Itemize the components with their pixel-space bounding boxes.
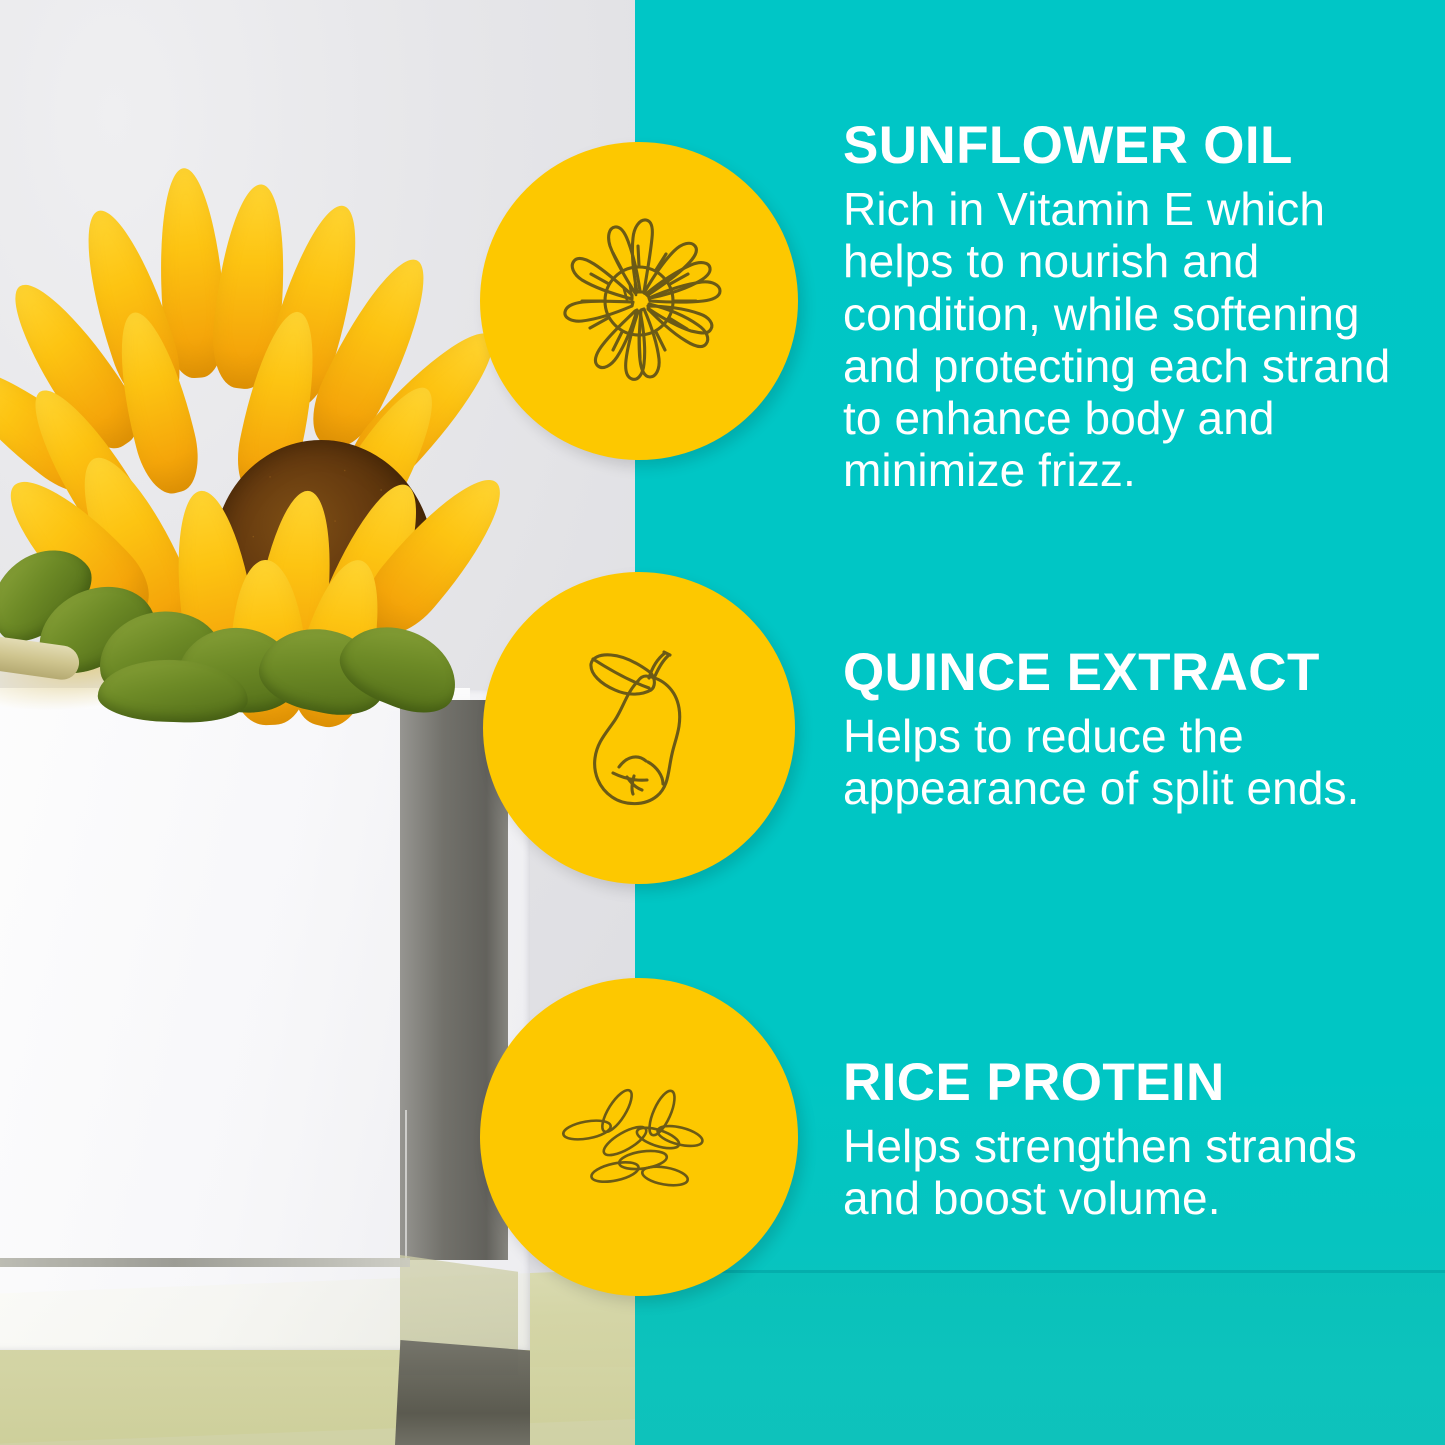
ingredient-block-quince-extract: QUINCE EXTRACT Helps to reduce the appea… [843,645,1408,815]
acrylic-block-bottom-edge [0,1258,410,1267]
ingredient-block-sunflower-oil: SUNFLOWER OIL Rich in Vitamin E which he… [843,118,1408,496]
ingredient-icon-badge-sunflower-oil [480,142,798,460]
ingredient-benefits-infographic: SUNFLOWER OIL Rich in Vitamin E which he… [0,0,1445,1445]
pear-icon [539,628,739,828]
ingredient-description: Helps to reduce the appearance of split … [843,710,1408,814]
teal-lower-band [635,1273,1445,1445]
table-surface-shadow [0,1367,635,1445]
ingredient-description: Rich in Vitamin E which helps to nourish… [843,183,1408,496]
ingredient-title: QUINCE EXTRACT [843,645,1408,700]
ingredient-title: SUNFLOWER OIL [843,118,1408,173]
ingredient-icon-badge-quince-extract [483,572,795,884]
flower-icon [534,196,744,406]
ingredient-block-rice-protein: RICE PROTEIN Helps strengthen strands an… [843,1055,1408,1225]
ingredient-icon-badge-rice-protein [480,978,798,1296]
ingredient-title: RICE PROTEIN [843,1055,1408,1110]
rice-grains-icon [539,1037,739,1237]
acrylic-block-lower-reflection [395,1340,530,1445]
ingredient-description: Helps strengthen strands and boost volum… [843,1120,1408,1224]
acrylic-scratch [405,1110,407,1260]
